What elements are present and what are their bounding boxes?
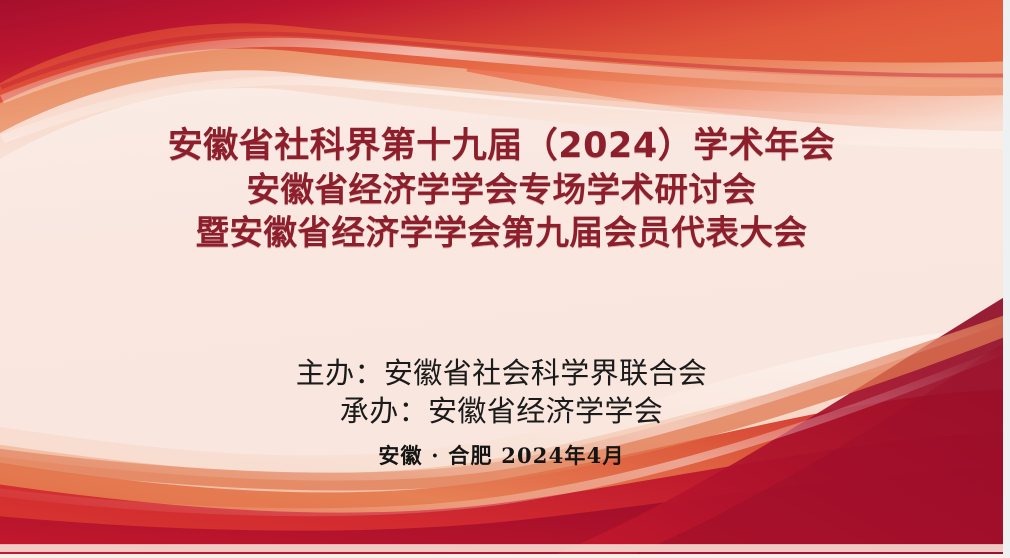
host-information: 主办：安徽省社会科学界联合会 承办：安徽省经济学学会 安徽 · 合肥 2024年… — [0, 355, 1003, 469]
title-line-1: 安徽省社科界第十九届（2024）学术年会 — [0, 125, 1003, 168]
place-and-date: 安徽 · 合肥 2024年4月 — [0, 442, 1003, 469]
conference-title-slide: 安徽省社科界第十九届（2024）学术年会 安徽省经济学学会专场学术研讨会 暨安徽… — [0, 0, 1010, 558]
slide-content: 安徽省社科界第十九届（2024）学术年会 安徽省经济学学会专场学术研讨会 暨安徽… — [0, 0, 1003, 554]
organizer-line: 主办：安徽省社会科学界联合会 — [0, 355, 1003, 393]
co-organizer-line: 承办：安徽省经济学学会 — [0, 393, 1003, 431]
title-line-2: 安徽省经济学学会专场学术研讨会 — [0, 168, 1003, 211]
title-line-3: 暨安徽省经济学学会第九届会员代表大会 — [0, 211, 1003, 254]
conference-title: 安徽省社科界第十九届（2024）学术年会 安徽省经济学学会专场学术研讨会 暨安徽… — [0, 125, 1003, 254]
